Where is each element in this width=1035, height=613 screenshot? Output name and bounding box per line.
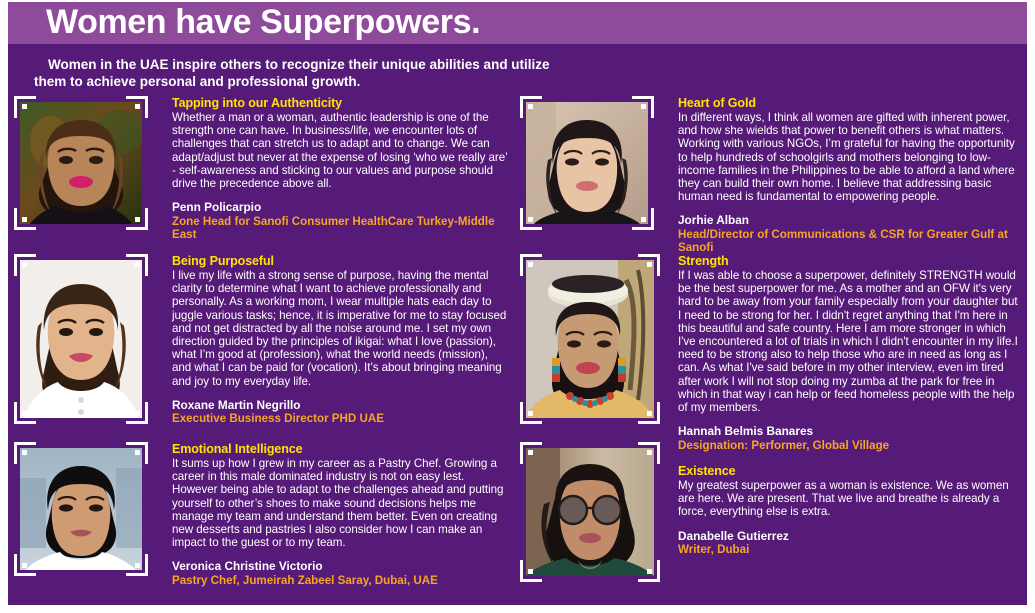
corner-bracket-icon bbox=[14, 442, 36, 464]
profile-name: Roxane Martin Negrillo bbox=[172, 399, 508, 412]
poster-page: Women have Superpowers. Women in the UAE… bbox=[0, 0, 1035, 613]
corner-bracket-icon bbox=[14, 554, 36, 576]
corner-bracket-icon bbox=[14, 402, 36, 424]
profile-body: I live my life with a strong sense of pu… bbox=[172, 269, 508, 388]
profile-entry: Emotional Intelligence It sums up how I … bbox=[14, 442, 510, 602]
corner-bracket-icon bbox=[520, 254, 542, 276]
corner-bracket-icon bbox=[520, 402, 542, 424]
profile-entry: Existence My greatest superpower as a wo… bbox=[520, 442, 1016, 602]
profile-title: Existence bbox=[678, 464, 1018, 478]
photo-frame bbox=[520, 254, 660, 424]
profile-text: Emotional Intelligence It sums up how I … bbox=[172, 442, 508, 587]
profile-title: Emotional Intelligence bbox=[172, 442, 508, 456]
portrait-photo bbox=[20, 260, 142, 418]
corner-bracket-icon bbox=[126, 554, 148, 576]
corner-bracket-icon bbox=[520, 442, 542, 464]
corner-bracket-icon bbox=[126, 442, 148, 464]
profile-entry: Heart of Gold In different ways, I think… bbox=[520, 96, 1016, 254]
profile-role: Executive Business Director PHD UAE bbox=[172, 412, 508, 425]
profile-role: Writer, Dubai bbox=[678, 543, 1018, 556]
corner-bracket-icon bbox=[520, 208, 542, 230]
profile-body: If I was able to choose a superpower, de… bbox=[678, 269, 1018, 414]
profile-name: Hannah Belmis Banares bbox=[678, 425, 1018, 438]
corner-bracket-icon bbox=[126, 208, 148, 230]
profile-text: Heart of Gold In different ways, I think… bbox=[678, 96, 1018, 254]
profile-title: Strength bbox=[678, 254, 1018, 268]
corner-bracket-icon bbox=[638, 560, 660, 582]
corner-bracket-icon bbox=[638, 442, 660, 464]
corner-bracket-icon bbox=[14, 208, 36, 230]
body-panel: Women in the UAE inspire others to recog… bbox=[8, 44, 1027, 605]
profile-name: Jorhie Alban bbox=[678, 214, 1018, 227]
corner-bracket-icon bbox=[126, 402, 148, 424]
profile-body: It sums up how I grew in my career as a … bbox=[172, 457, 508, 549]
profile-body: In different ways, I think all women are… bbox=[678, 111, 1018, 203]
profile-entry: Strength If I was able to choose a super… bbox=[520, 254, 1016, 442]
photo-frame bbox=[520, 96, 654, 230]
portrait-photo bbox=[526, 448, 654, 576]
corner-bracket-icon bbox=[638, 402, 660, 424]
profile-text: Being Purposeful I live my life with a s… bbox=[172, 254, 508, 425]
photo-frame bbox=[520, 442, 660, 582]
corner-bracket-icon bbox=[638, 254, 660, 276]
profile-name: Penn Policarpio bbox=[172, 201, 508, 214]
header-band: Women have Superpowers. bbox=[8, 2, 1027, 44]
profile-title: Heart of Gold bbox=[678, 96, 1018, 110]
page-title: Women have Superpowers. bbox=[46, 1, 480, 43]
portrait-photo bbox=[20, 448, 142, 570]
profile-entry: Being Purposeful I live my life with a s… bbox=[14, 254, 510, 442]
corner-bracket-icon bbox=[126, 96, 148, 118]
profile-text: Strength If I was able to choose a super… bbox=[678, 254, 1018, 452]
profile-name: Danabelle Gutierrez bbox=[678, 530, 1018, 543]
profile-role: Head/Director of Communications & CSR fo… bbox=[678, 228, 1018, 254]
portrait-photo bbox=[526, 260, 654, 418]
photo-frame bbox=[14, 96, 148, 230]
profile-title: Being Purposeful bbox=[172, 254, 508, 268]
corner-bracket-icon bbox=[520, 96, 542, 118]
portrait-photo bbox=[526, 102, 648, 224]
profile-name: Veronica Christine Victorio bbox=[172, 560, 508, 573]
photo-frame bbox=[14, 442, 148, 576]
profile-role: Pastry Chef, Jumeirah Zabeel Saray, Duba… bbox=[172, 574, 508, 587]
corner-bracket-icon bbox=[126, 254, 148, 276]
profile-role: Zone Head for Sanofi Consumer HealthCare… bbox=[172, 215, 508, 241]
subtitle-text: Women in the UAE inspire others to recog… bbox=[34, 56, 564, 90]
profile-entry: Tapping into our Authenticity Whether a … bbox=[14, 96, 510, 254]
corner-bracket-icon bbox=[520, 560, 542, 582]
profile-body: Whether a man or a woman, authentic lead… bbox=[172, 111, 508, 190]
profile-text: Tapping into our Authenticity Whether a … bbox=[172, 96, 508, 241]
corner-bracket-icon bbox=[632, 208, 654, 230]
corner-bracket-icon bbox=[14, 254, 36, 276]
profile-title: Tapping into our Authenticity bbox=[172, 96, 508, 110]
portrait-photo bbox=[20, 102, 142, 224]
corner-bracket-icon bbox=[14, 96, 36, 118]
profile-text: Existence My greatest superpower as a wo… bbox=[678, 442, 1018, 556]
photo-frame bbox=[14, 254, 148, 424]
profile-body: My greatest superpower as a woman is exi… bbox=[678, 479, 1018, 519]
corner-bracket-icon bbox=[632, 96, 654, 118]
